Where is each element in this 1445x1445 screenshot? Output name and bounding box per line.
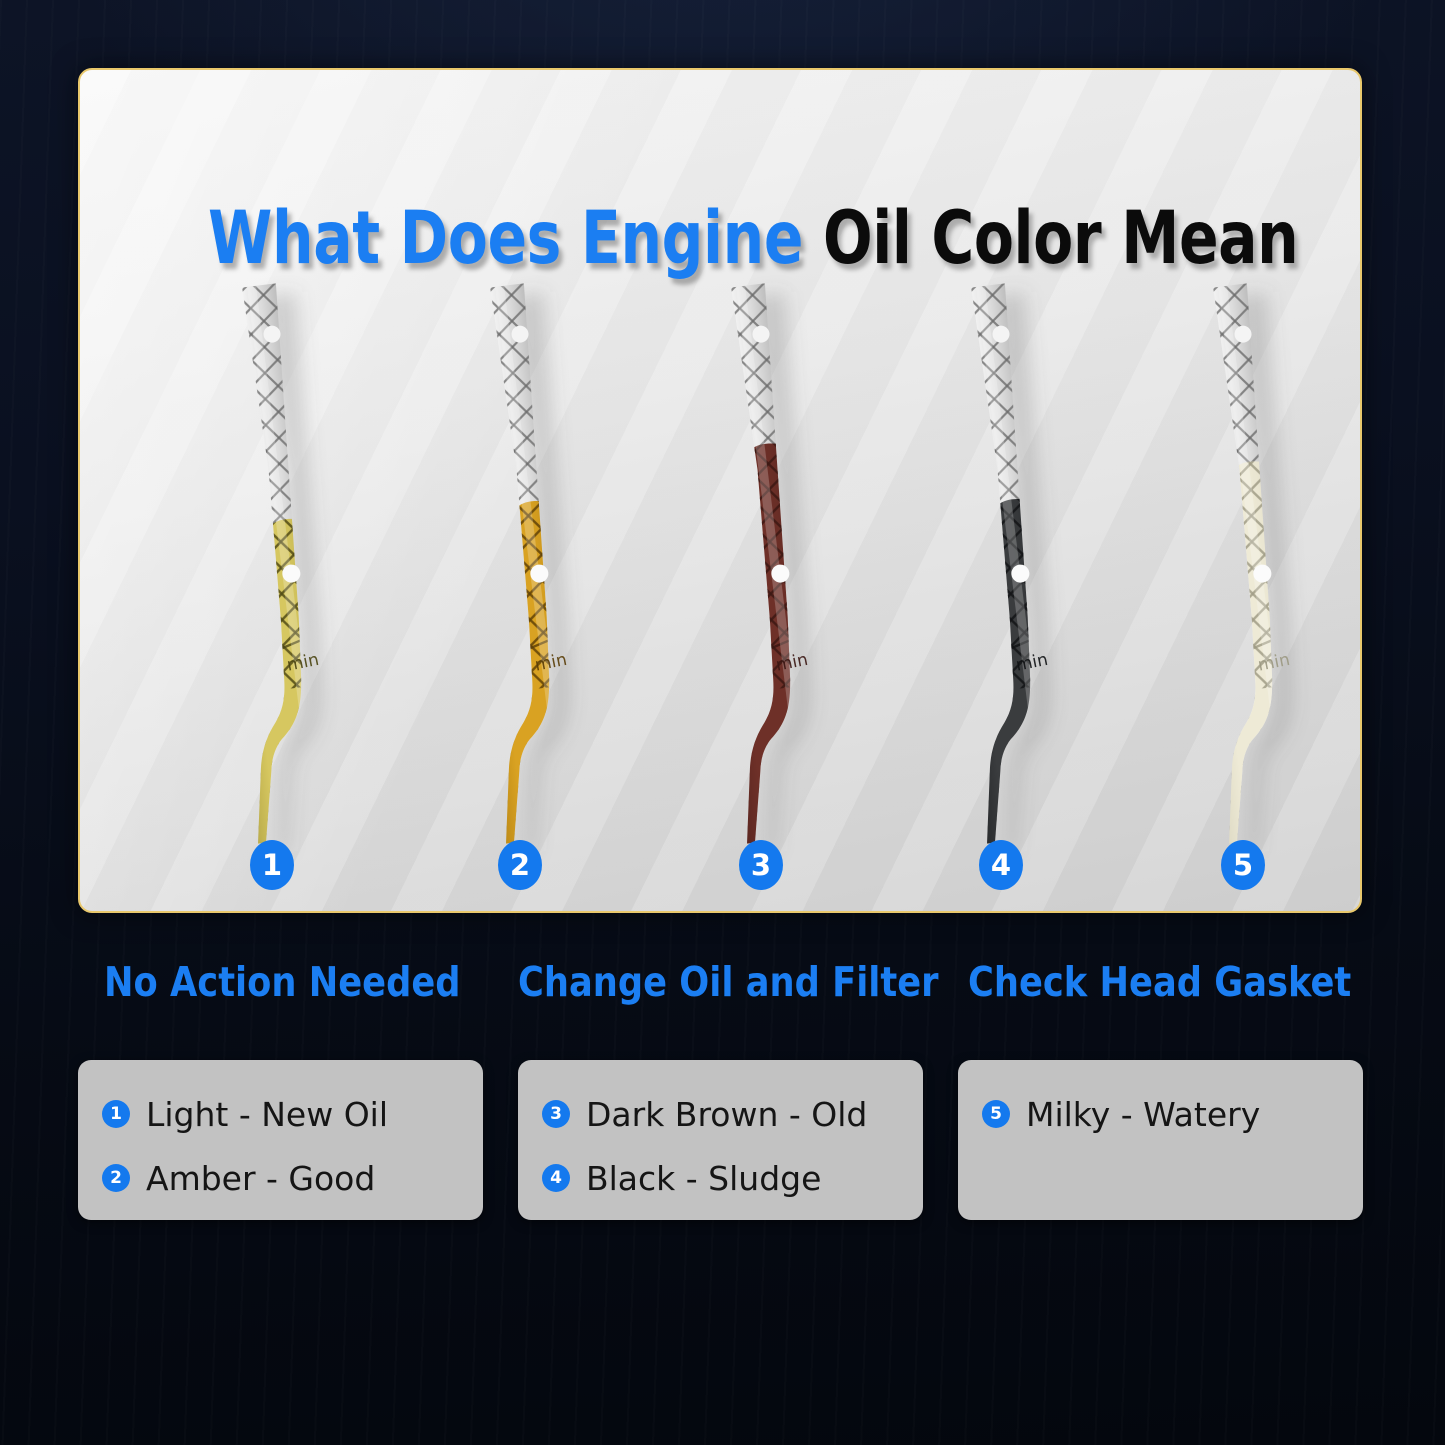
legend-label: Light - New Oil bbox=[146, 1095, 388, 1134]
dipstick-milky-watery: min bbox=[1123, 320, 1362, 840]
legend-card-2: 3Dark Brown - Old4Black - Sludge bbox=[518, 1060, 923, 1220]
legend-row: 4Black - Sludge bbox=[542, 1146, 923, 1210]
dipstick-black-sludge: min bbox=[881, 320, 1121, 840]
page-title: What Does Engine Oil Color Mean bbox=[208, 202, 1232, 275]
legend-number-badge-2: 2 bbox=[102, 1164, 130, 1192]
dipstick-light-new-oil: min bbox=[152, 320, 392, 840]
dipstick-dark-brown-old: min bbox=[641, 320, 881, 840]
page-title-blue-part: What Does Engine bbox=[208, 196, 803, 281]
legend-number-badge-1: 1 bbox=[102, 1100, 130, 1128]
legend-row: 3Dark Brown - Old bbox=[542, 1082, 923, 1146]
legend-label: Amber - Good bbox=[146, 1159, 375, 1198]
legend-label: Milky - Watery bbox=[1026, 1095, 1260, 1134]
dipstick-amber-good: min bbox=[400, 320, 640, 840]
section-heading-3: Check Head Gasket bbox=[968, 958, 1351, 1006]
dipstick-number-badge-2: 2 bbox=[498, 840, 542, 890]
dipstick-number-badge-1: 1 bbox=[250, 840, 294, 890]
legend-number-badge-3: 3 bbox=[542, 1100, 570, 1128]
legend-label: Black - Sludge bbox=[586, 1159, 821, 1198]
legend-card-3: 5Milky - Watery bbox=[958, 1060, 1363, 1220]
hero-card: What Does Engine Oil Color Mean minminmi… bbox=[78, 68, 1362, 913]
legend-card-1: 1Light - New Oil2Amber - Good bbox=[78, 1060, 483, 1220]
section-heading-2: Change Oil and Filter bbox=[518, 958, 939, 1006]
legend-label: Dark Brown - Old bbox=[586, 1095, 867, 1134]
legend-row: 2Amber - Good bbox=[102, 1146, 483, 1210]
legend-row: 1Light - New Oil bbox=[102, 1082, 483, 1146]
dipstick-number-row: 12345 bbox=[80, 840, 1360, 910]
dipstick-number-badge-4: 4 bbox=[979, 840, 1023, 890]
section-heading-1: No Action Needed bbox=[104, 958, 460, 1006]
page-title-dark-part: Oil Color Mean bbox=[823, 196, 1298, 281]
dipstick-number-badge-3: 3 bbox=[739, 840, 783, 890]
legend-row: 5Milky - Watery bbox=[982, 1082, 1363, 1146]
dipstick-number-badge-5: 5 bbox=[1221, 840, 1265, 890]
legend-number-badge-5: 5 bbox=[982, 1100, 1010, 1128]
legend-area: No Action Needed1Light - New Oil2Amber -… bbox=[0, 940, 1445, 1240]
dipstick-stage: minminminminmin 12345 bbox=[80, 320, 1360, 913]
legend-number-badge-4: 4 bbox=[542, 1164, 570, 1192]
